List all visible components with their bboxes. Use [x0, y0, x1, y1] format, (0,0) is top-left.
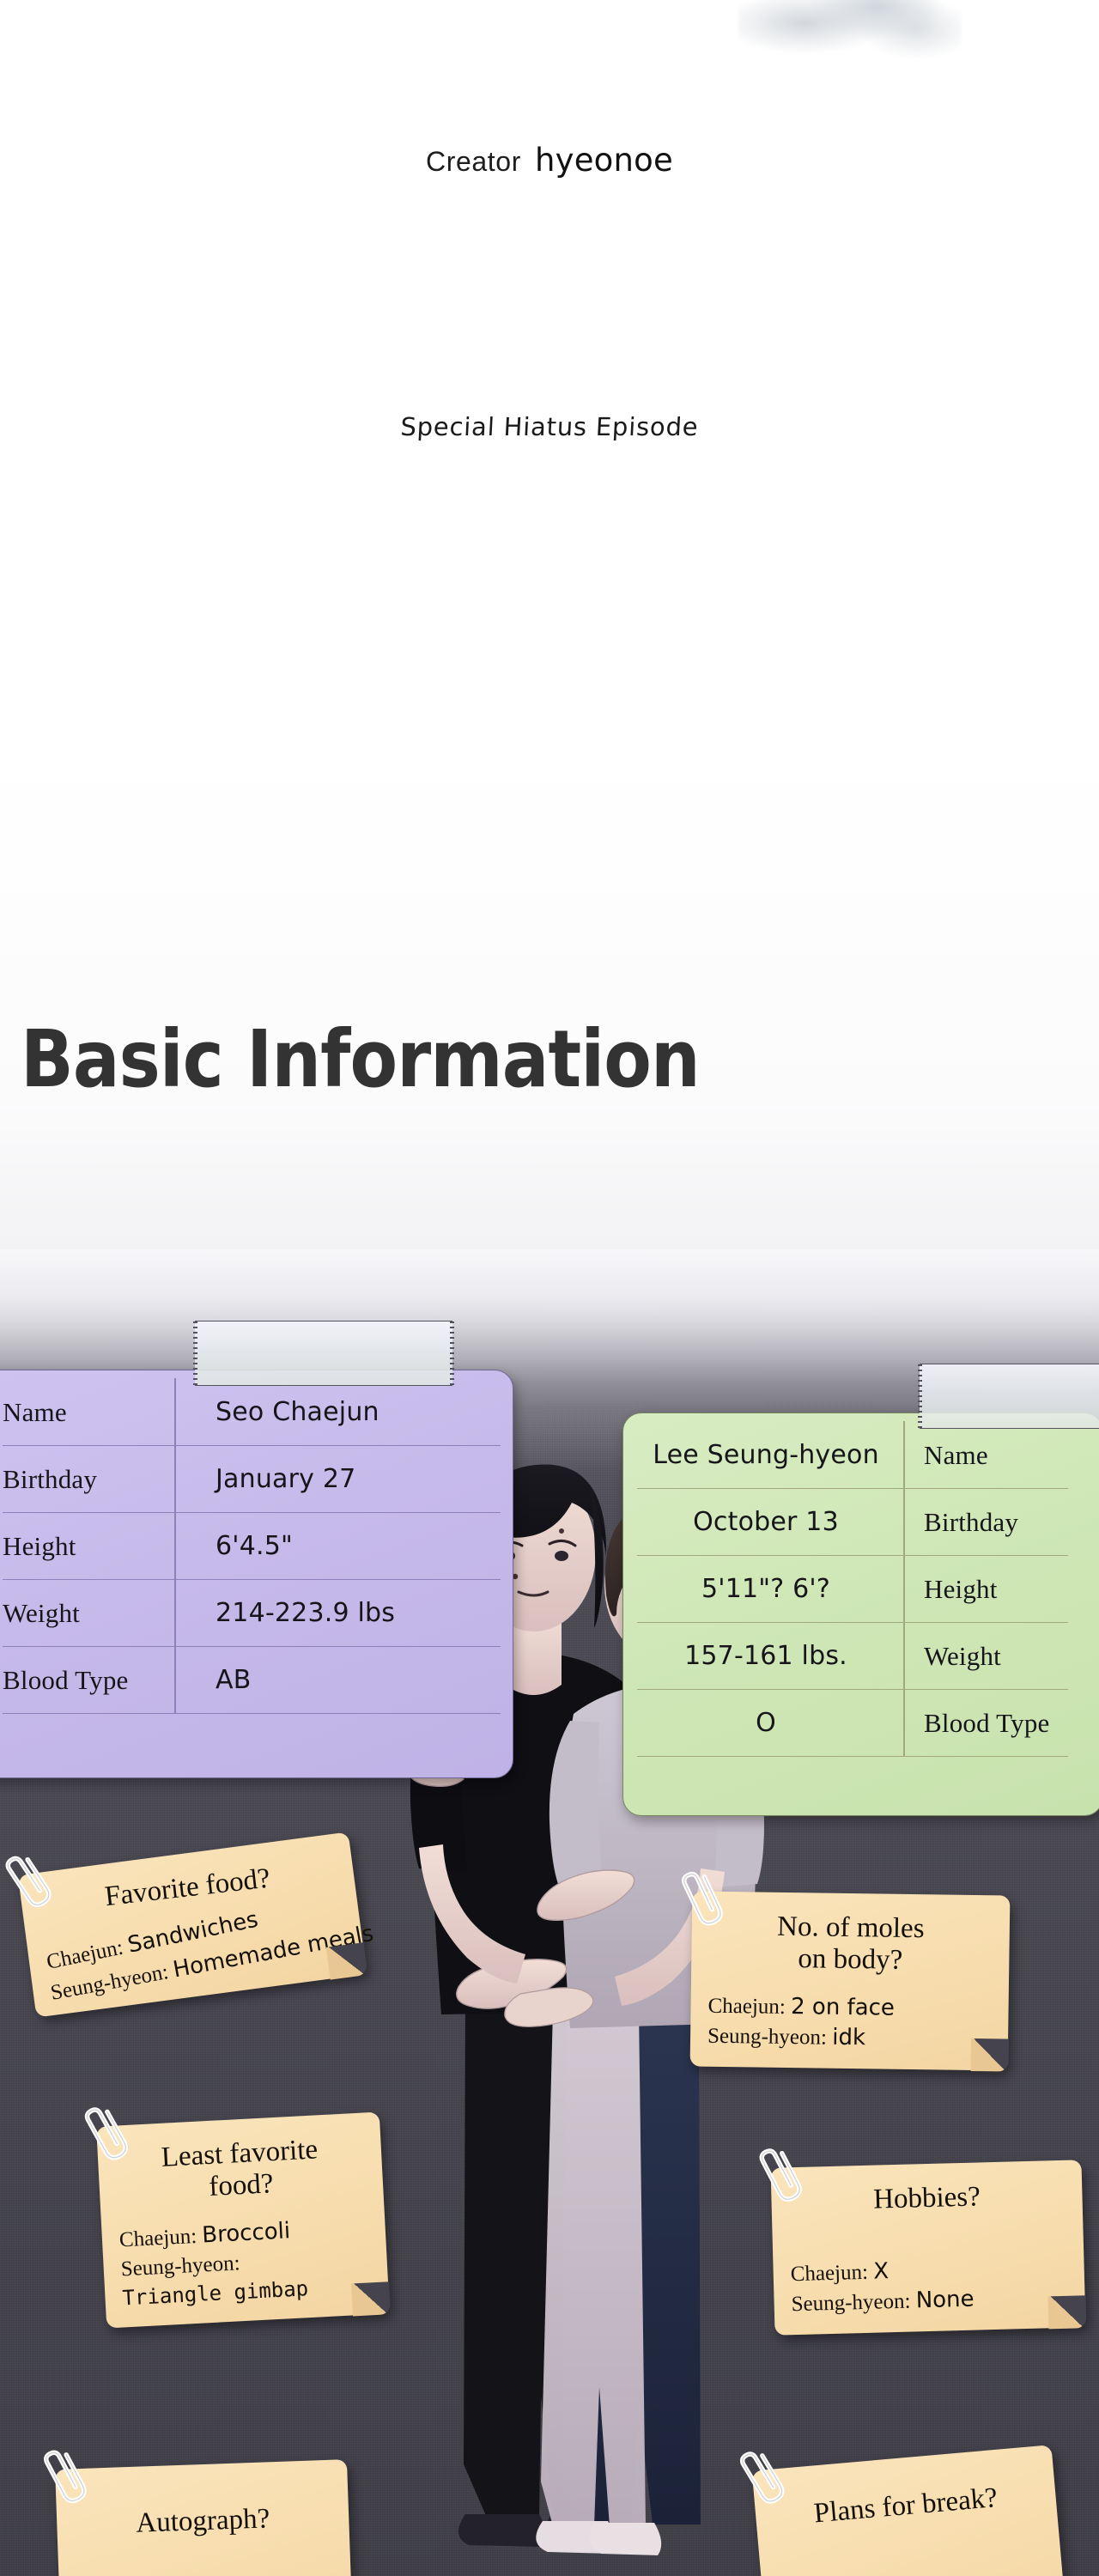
chaejun-info-rows: Name Seo Chaejun Birthday January 27 Hei… — [0, 1370, 513, 1777]
creator-label: Creator — [426, 146, 521, 177]
answer-chaejun-label: Cha — [779, 2558, 1047, 2576]
column-divider — [903, 1689, 905, 1757]
column-divider — [174, 1512, 176, 1580]
column-divider — [174, 1646, 176, 1714]
table-row: 157-161 lbs. Weight — [637, 1623, 1068, 1690]
table-row: October 13 Birthday — [637, 1489, 1068, 1556]
watermark-smudge-icon — [738, 0, 962, 65]
row-value: 214-223.9 lbs — [174, 1598, 395, 1628]
column-divider — [903, 1421, 905, 1489]
row-label: Blood Type — [3, 1665, 174, 1696]
seunghyeon-info-card: Lee Seung-hyeon Name October 13 Birthday… — [622, 1413, 1099, 1816]
row-value: January 27 — [174, 1464, 355, 1494]
note-answers: Chaejun: 서채준 — [76, 2573, 335, 2576]
creator-credit: Creatorhyeonoe — [0, 142, 1099, 179]
table-row: Name Seo Chaejun — [3, 1379, 501, 1446]
row-value: 6'4.5" — [174, 1531, 293, 1561]
answer-label: Chaejun: — [707, 1995, 786, 2019]
table-row: Blood Type AB — [3, 1647, 501, 1714]
row-label: Weight — [905, 1641, 1068, 1672]
table-row: 5'11"? 6'? Height — [637, 1556, 1068, 1623]
note-autograph: Autograph? Chaejun: 서채준 — [55, 2459, 354, 2576]
row-label: Height — [905, 1574, 1068, 1605]
row-label: Name — [905, 1440, 1068, 1471]
episode-label: Special Hiatus Episode — [0, 412, 1099, 441]
column-divider — [903, 1622, 905, 1690]
answer-seunghyeon: Seung-hyeon: None — [791, 2282, 1068, 2320]
column-divider — [903, 1488, 905, 1556]
page-fold-corner — [326, 1942, 368, 1979]
note-question-line1: No. of moles — [709, 1911, 993, 1947]
note-answers: Cha — [779, 2558, 1047, 2576]
table-row: Height 6'4.5" — [3, 1513, 501, 1580]
chaejun-info-card: Name Seo Chaejun Birthday January 27 Hei… — [0, 1370, 513, 1778]
column-divider — [174, 1378, 176, 1446]
note-question: Plans for break? — [772, 2479, 1040, 2534]
column-divider — [174, 1579, 176, 1647]
row-value: October 13 — [637, 1507, 905, 1537]
note-least-favorite-food: Least favorite food? Chaejun: Broccoli S… — [96, 2112, 390, 2329]
answer-chaejun: Chaejun: 서채준 — [76, 2573, 335, 2576]
answer-label: Seung-hyeon: — [791, 2290, 911, 2317]
page-fold-corner — [1048, 2295, 1087, 2329]
page-fold-corner — [351, 2281, 391, 2316]
answer-label: Seung-hyeon: — [707, 2025, 827, 2050]
row-value: Seo Chaejun — [174, 1397, 379, 1427]
answer-value: 2 on face — [791, 1994, 895, 2021]
answer-value: idk — [832, 2025, 865, 2051]
note-answers: Chaejun: X Seung-hyeon: None — [790, 2252, 1068, 2320]
row-label: Birthday — [905, 1507, 1068, 1538]
top-white-section: Creatorhyeonoe Special Hiatus Episode Ba… — [0, 0, 1099, 1254]
answer-value: None — [915, 2287, 975, 2314]
row-label: Blood Type — [905, 1708, 1068, 1739]
note-question-line2: on body? — [708, 1942, 992, 1978]
row-label: Weight — [3, 1598, 174, 1629]
column-divider — [903, 1555, 905, 1623]
page-fold-corner — [971, 2038, 1010, 2072]
webtoon-page: Creatorhyeonoe Special Hiatus Episode Ba… — [0, 0, 1099, 2576]
note-answers: Chaejun: Broccoli Seung-hyeon: Triangle … — [118, 2212, 372, 2312]
table-row: O Blood Type — [637, 1690, 1068, 1757]
seunghyeon-info-rows: Lee Seung-hyeon Name October 13 Birthday… — [623, 1413, 1099, 1815]
creator-name: hyeonoe — [535, 142, 673, 179]
column-divider — [174, 1445, 176, 1513]
row-label: Height — [3, 1531, 174, 1562]
row-value: 5'11"? 6'? — [637, 1574, 905, 1604]
row-value: AB — [174, 1665, 252, 1695]
table-row: Weight 214-223.9 lbs — [3, 1580, 501, 1647]
note-hobbies: Hobbies? Chaejun: X Seung-hyeon: None — [771, 2160, 1086, 2336]
note-question: Autograph? — [74, 2501, 332, 2542]
row-value: 157-161 lbs. — [637, 1641, 905, 1671]
answer-value: X — [873, 2258, 890, 2284]
note-question: Hobbies? — [788, 2179, 1066, 2218]
row-label: Birthday — [3, 1464, 174, 1495]
answer-chaejun: Chaejun: 2 on face — [707, 1991, 991, 2026]
row-value: Lee Seung-hyeon — [637, 1440, 905, 1470]
note-answers: Chaejun: 2 on face Seung-hyeon: idk — [707, 1991, 992, 2056]
row-value: O — [637, 1708, 905, 1738]
answer-label: Chaejun: — [790, 2261, 868, 2286]
table-row: Birthday January 27 — [3, 1446, 501, 1513]
note-moles: No. of moles on body? Chaejun: 2 on face… — [690, 1891, 1011, 2070]
table-row: Lee Seung-hyeon Name — [637, 1422, 1068, 1489]
row-label: Name — [3, 1397, 174, 1428]
answer-value: Broccoli — [202, 2218, 291, 2248]
answer-label: Chaejun: — [118, 2225, 197, 2252]
answer-seunghyeon: Seung-hyeon: idk — [707, 2021, 991, 2056]
page-title: Basic Information — [21, 1020, 700, 1099]
